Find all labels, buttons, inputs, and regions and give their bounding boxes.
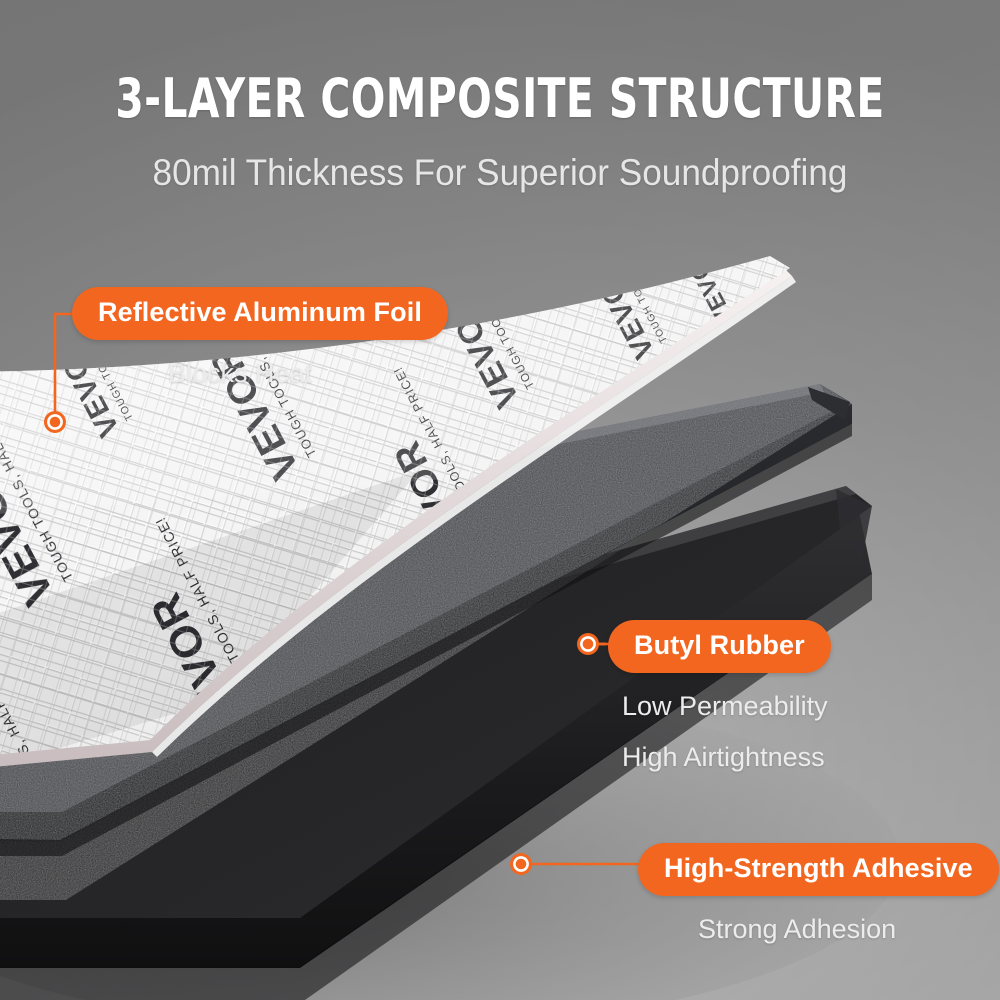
callout-butyl-rubber: Butyl Rubber Low Permeability High Airti… — [608, 620, 831, 775]
infographic-canvas: VEVOR TOUGH TOOLS, HALF PRICE! VEVOR TOU… — [0, 0, 1000, 1000]
callout-label-foil[interactable]: Reflective Aluminum Foil — [72, 287, 448, 340]
callout-high-strength-adhesive: High-Strength Adhesive Strong Adhesion — [638, 843, 999, 947]
callout-description-adhesive: Strong Adhesion — [698, 912, 999, 947]
page-subtitle: 80mil Thickness For Superior Soundproofi… — [25, 126, 975, 194]
callout-label-adhesive[interactable]: High-Strength Adhesive — [638, 843, 999, 896]
callout-label-butyl[interactable]: Butyl Rubber — [608, 620, 831, 673]
page-title: 3-LAYER COMPOSITE STRUCTURE — [80, 0, 920, 126]
header: 3-LAYER COMPOSITE STRUCTURE 80mil Thickn… — [0, 0, 1000, 194]
callout-description-butyl-line2: High Airtightness — [622, 740, 831, 775]
callout-reflective-aluminum-foil: Reflective Aluminum Foil Blocks Heat — [72, 287, 448, 391]
callout-description-butyl-line1: Low Permeability — [622, 689, 831, 724]
callout-description-foil: Blocks Heat — [168, 356, 448, 391]
